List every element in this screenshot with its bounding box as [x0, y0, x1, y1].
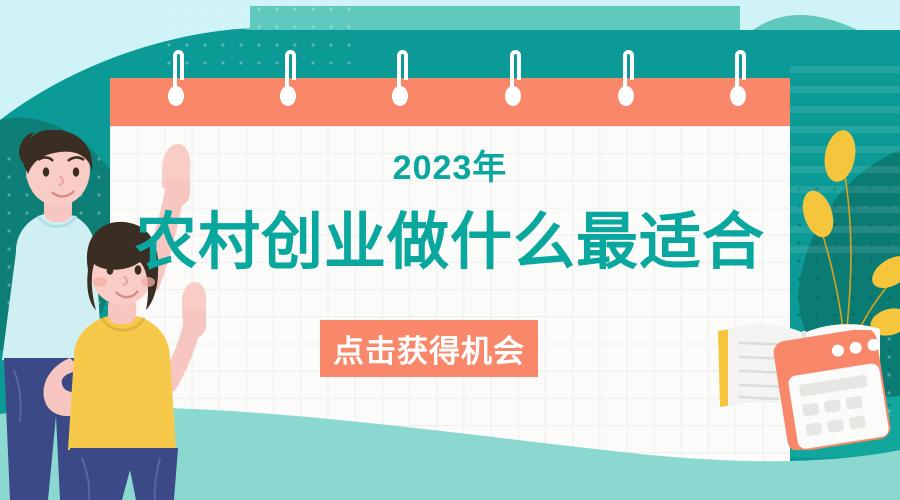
- headline-title: 农村创业做什么最适合: [110, 212, 790, 274]
- poster-canvas: 2023年 农村创业做什么最适合 点击获得机会: [0, 0, 900, 500]
- year-label: 2023年: [110, 140, 790, 189]
- calendar-ring: [280, 50, 296, 108]
- cta-button[interactable]: 点击获得机会: [320, 320, 538, 377]
- calendar-ring: [730, 50, 746, 108]
- calendar-ring: [505, 50, 521, 108]
- calendar-ring: [618, 50, 634, 108]
- calendar-ring: [392, 50, 408, 108]
- calendar-ring: [168, 50, 184, 108]
- calendar-header-bar: [110, 78, 790, 126]
- woman-shirt: [68, 314, 176, 450]
